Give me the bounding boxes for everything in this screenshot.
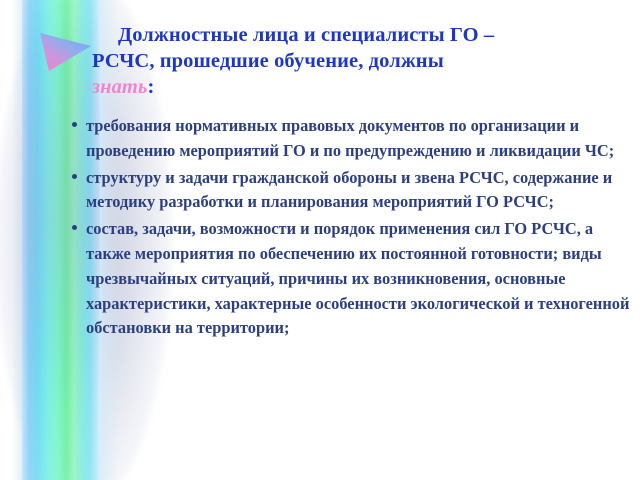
title-line-1: Должностные лица и специалисты ГО – xyxy=(118,24,494,46)
list-item-text: требования нормативных правовых документ… xyxy=(86,116,614,160)
bullet-dot-icon xyxy=(72,225,77,230)
bullet-dot-icon xyxy=(72,174,77,179)
presentation-slide: Должностные лица и специалисты ГО – РСЧС… xyxy=(0,0,640,480)
list-item: состав, задачи, возможности и порядок пр… xyxy=(72,217,638,341)
list-item-text: состав, задачи, возможности и порядок пр… xyxy=(86,219,629,337)
list-item-text: структуру и задачи гражданской обороны и… xyxy=(86,168,612,212)
bullet-dot-icon xyxy=(72,122,77,127)
list-item: структуру и задачи гражданской обороны и… xyxy=(72,166,638,216)
slide-content: Должностные лица и специалисты ГО – РСЧС… xyxy=(0,0,640,480)
bullet-list: требования нормативных правовых документ… xyxy=(72,114,638,343)
slide-title: Должностные лица и специалисты ГО – РСЧС… xyxy=(92,22,632,100)
list-item: требования нормативных правовых документ… xyxy=(72,114,638,164)
title-colon: : xyxy=(147,76,154,98)
title-line-2: РСЧС, прошедшие обучение, должны xyxy=(92,50,444,72)
title-emphasis-word: знать xyxy=(92,76,147,98)
